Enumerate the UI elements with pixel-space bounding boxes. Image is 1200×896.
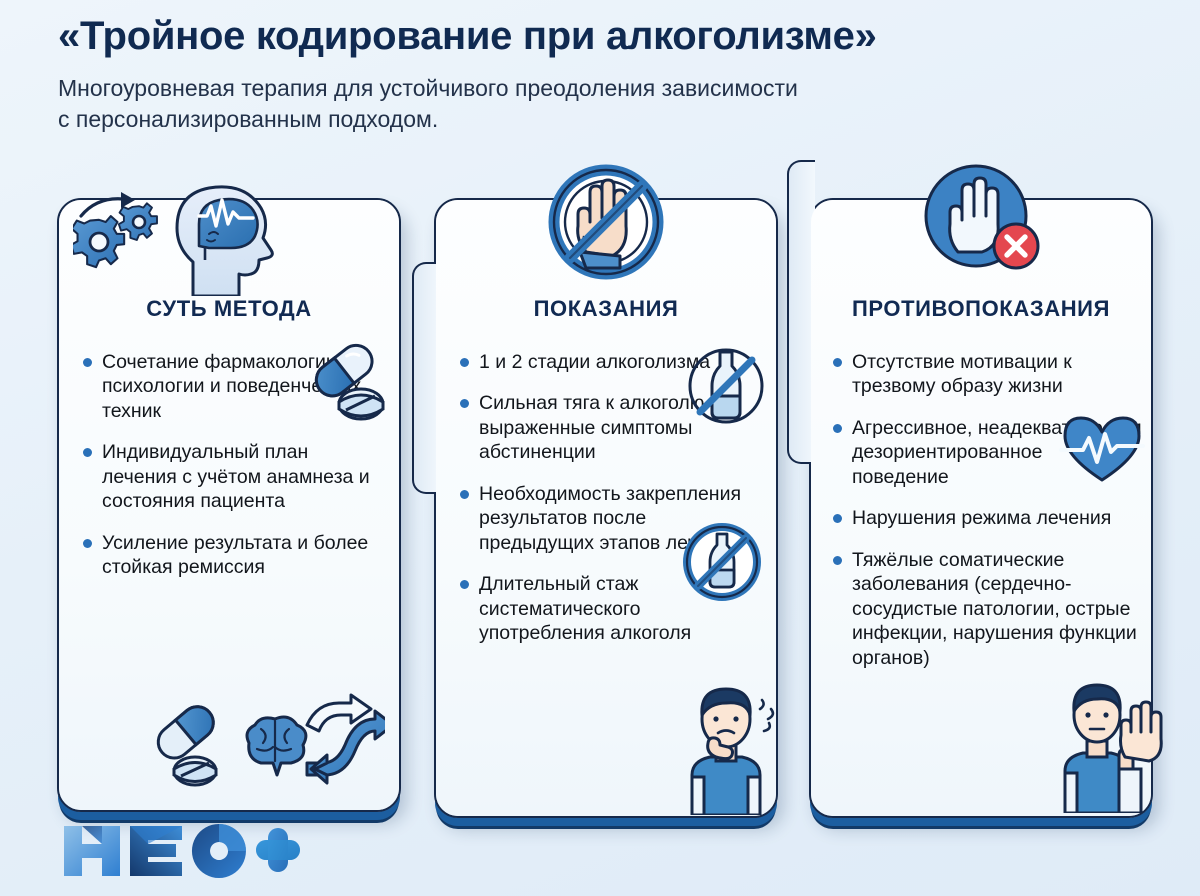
list-item: Сочетание фармакологии, психологии и пов… (81, 350, 385, 423)
list-item: Нарушения режима лечения (831, 506, 1143, 530)
infographic-page: «Тройное кодирование при алкоголизме» Мн… (0, 0, 1200, 896)
list-item: Необходимость закрепления результатов по… (458, 482, 762, 555)
card-3-bullet-list: Отсутствие мотивации к трезвому образу ж… (831, 350, 1143, 687)
card-suть-metoda: СУТЬ МЕТОДА Сочетание фармакологии, псих… (57, 198, 401, 812)
neo-plus-logo (60, 822, 300, 880)
card-1-inner: СУТЬ МЕТОДА Сочетание фармакологии, псих… (59, 200, 399, 810)
card-3-header: ПРОТИВОПОКАЗАНИЯ (811, 200, 1151, 304)
card-2-title: ПОКАЗАНИЯ (436, 296, 776, 322)
card-2-header: ПОКАЗАНИЯ (436, 200, 776, 304)
cards-row: СУТЬ МЕТОДА Сочетание фармакологии, псих… (57, 198, 1149, 818)
list-item: Длительный стаж систематического употреб… (458, 572, 762, 645)
page-subtitle: Многоуровневая терапия для устойчивого п… (58, 73, 1168, 136)
card-1-bullet-list: Сочетание фармакологии, психологии и пов… (81, 350, 385, 597)
subtitle-line-2: с персонализированным подходом. (58, 106, 438, 132)
list-item: Отсутствие мотивации к трезвому образу ж… (831, 350, 1143, 399)
card-2-inner: ПОКАЗАНИЯ 1 и 2 стадии алкоголизма Сильн… (436, 200, 776, 816)
list-item: Агрессивное, неадекватное или дезориенти… (831, 416, 1143, 489)
header: «Тройное кодирование при алкоголизме» Мн… (58, 14, 1168, 135)
card-1-title: СУТЬ МЕТОДА (59, 296, 399, 322)
list-item: 1 и 2 стадии алкоголизма (458, 350, 762, 374)
list-item: Тяжёлые соматические заболевания (сердеч… (831, 548, 1143, 670)
card-protivopokazaniya: ПРОТИВОПОКАЗАНИЯ Отсутствие мотивации к … (809, 198, 1153, 818)
subtitle-line-1: Многоуровневая терапия для устойчивого п… (58, 75, 798, 101)
card-3-inner: ПРОТИВОПОКАЗАНИЯ Отсутствие мотивации к … (811, 200, 1151, 816)
list-item: Усиление результата и более стойкая реми… (81, 531, 385, 580)
list-item: Сильная тяга к алкоголю и выраженные сим… (458, 391, 762, 464)
list-item: Индивидуальный план лечения с учётом ана… (81, 440, 385, 513)
card-pokazaniya: ПОКАЗАНИЯ 1 и 2 стадии алкоголизма Сильн… (434, 198, 778, 818)
card-1-header: СУТЬ МЕТОДА (59, 200, 399, 304)
page-title: «Тройное кодирование при алкоголизме» (58, 14, 1168, 59)
card-2-bullet-list: 1 и 2 стадии алкоголизма Сильная тяга к … (458, 350, 762, 663)
card-3-title: ПРОТИВОПОКАЗАНИЯ (811, 296, 1151, 322)
